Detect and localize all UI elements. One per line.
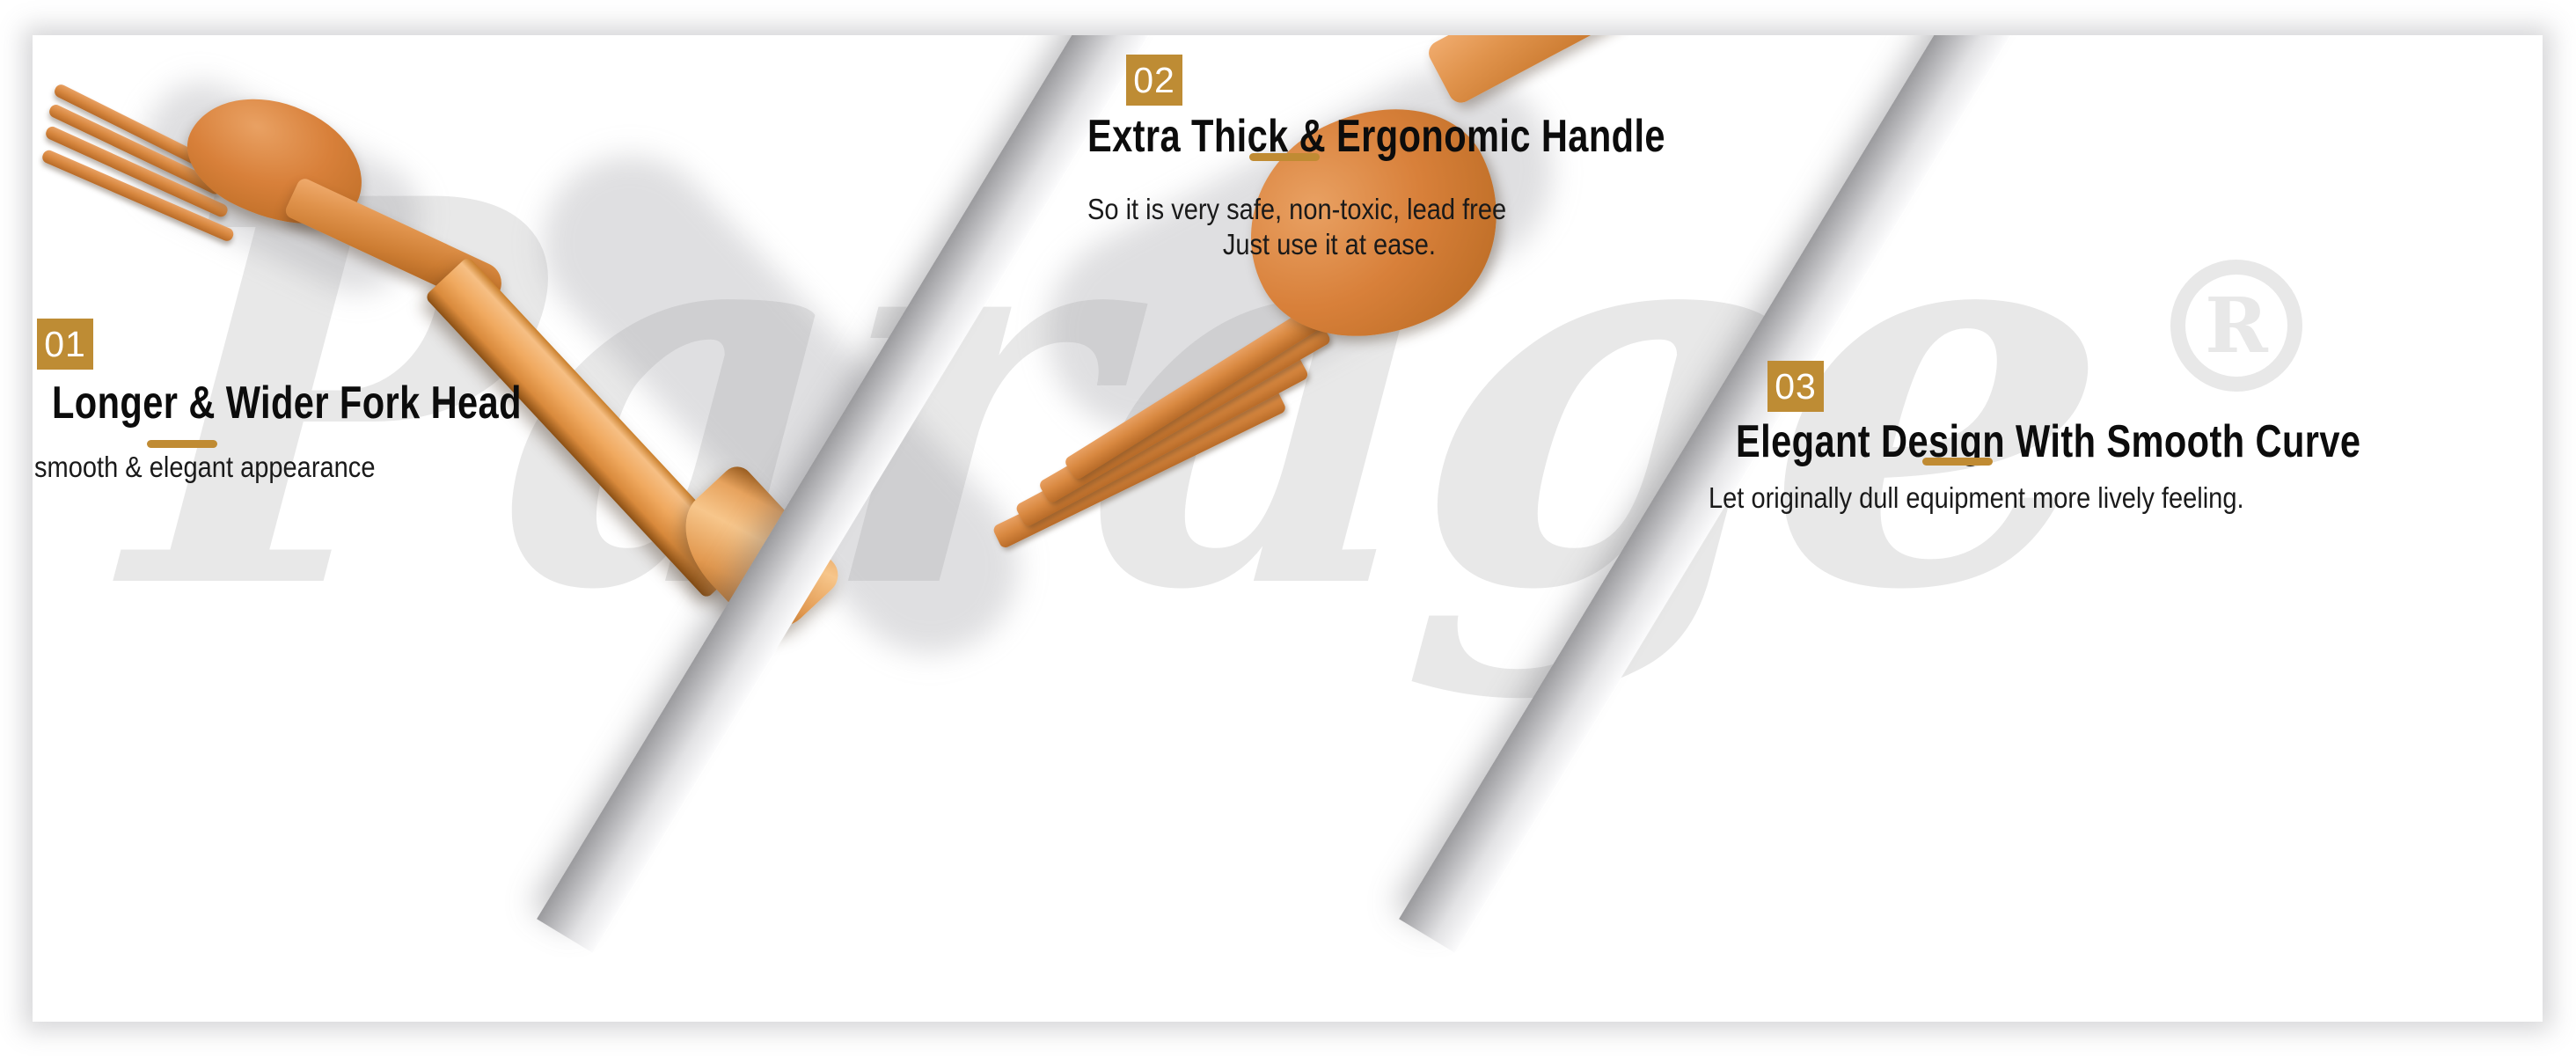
panel-badge-03: 03 bbox=[1767, 361, 1824, 412]
registered-trademark-icon: R bbox=[2170, 260, 2302, 392]
panel-body-line-02-2: Just use it at ease. bbox=[1130, 226, 1436, 263]
product-image-handle-panel2 bbox=[411, 238, 1185, 730]
panel-accent-bar-03 bbox=[1922, 458, 1993, 466]
panel-badge-01: 01 bbox=[37, 319, 93, 370]
panel-body-line-01-1: smooth & elegant appearance bbox=[34, 449, 375, 486]
panel-body-line-03-1: Let originally dull equipment more livel… bbox=[1709, 480, 2244, 517]
panel-divider-1 bbox=[537, 35, 1181, 953]
panel-heading-01: Longer & Wider Fork Head bbox=[52, 377, 522, 429]
panel-body-line-02-1: So it is very safe, non-toxic, lead free bbox=[1087, 191, 1506, 228]
panel-heading-03: Elegant Design With Smooth Curve bbox=[1736, 415, 2360, 468]
product-image-fork-panel1 bbox=[50, 51, 508, 306]
panel-heading-02: Extra Thick & Ergonomic Handle bbox=[1087, 110, 1665, 163]
infographic-canvas: Parage R bbox=[0, 0, 2576, 1056]
panel-badge-02: 02 bbox=[1126, 55, 1182, 106]
registered-trademark-letter: R bbox=[2185, 275, 2287, 377]
panel-accent-bar-01 bbox=[147, 440, 217, 448]
feature-card: Parage R bbox=[33, 35, 2543, 1022]
panel-accent-bar-02 bbox=[1249, 153, 1320, 161]
